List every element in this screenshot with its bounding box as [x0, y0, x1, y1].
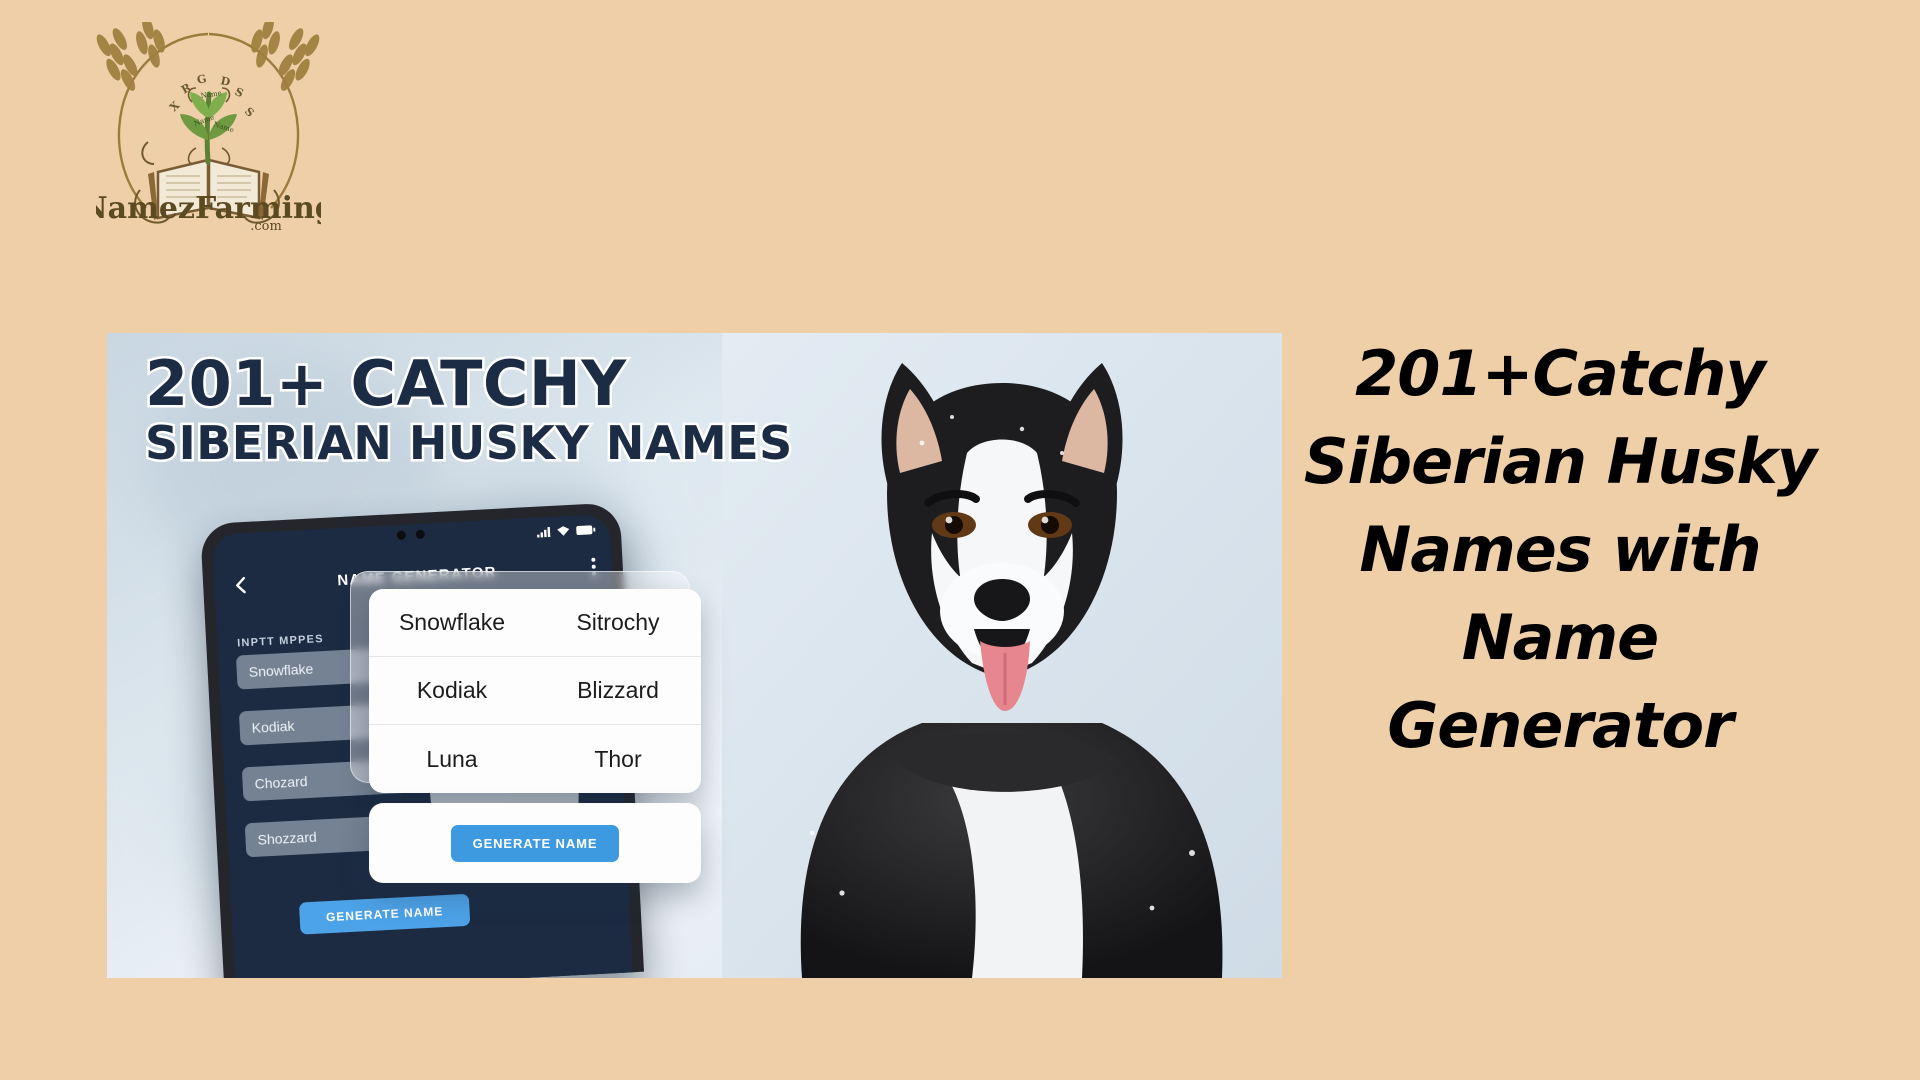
- name-cell[interactable]: Snowflake: [369, 609, 535, 636]
- phone-generate-name-button[interactable]: GENERATE NAME: [299, 894, 470, 935]
- camera-dot-icon: [397, 530, 406, 539]
- phone-status-bar: [537, 524, 596, 538]
- svg-text:D: D: [219, 74, 231, 89]
- wifi-icon: [557, 525, 571, 537]
- phone-notch: [378, 527, 445, 542]
- name-cell[interactable]: Luna: [369, 746, 535, 773]
- name-cell[interactable]: Thor: [535, 746, 701, 773]
- phone-input-label: INPTT MPPES: [237, 633, 324, 650]
- svg-text:S: S: [233, 85, 246, 100]
- name-row: Kodiak Blizzard: [369, 657, 701, 725]
- site-logo[interactable]: Name Name Name R G D S X S NamezFarming …: [96, 22, 321, 234]
- generate-name-button[interactable]: GENERATE NAME: [451, 825, 620, 862]
- generated-names-card: Snowflake Sitrochy Kodiak Blizzard Luna …: [369, 589, 701, 793]
- banner-headline: 201+ CATCHY SIBERIAN HUSKY NAMES: [145, 351, 793, 470]
- name-cell[interactable]: Blizzard: [535, 677, 701, 704]
- husky-photo: [722, 333, 1282, 978]
- name-row: Snowflake Sitrochy: [369, 589, 701, 657]
- kebab-dot: [592, 565, 596, 569]
- camera-dot-icon: [416, 529, 425, 538]
- svg-text:G: G: [196, 72, 208, 87]
- logo-illustration: Name Name Name R G D S X S NamezFarming …: [96, 22, 321, 234]
- signal-icon: [537, 526, 552, 538]
- generate-button-card: GENERATE NAME: [369, 803, 701, 883]
- name-cell[interactable]: Kodiak: [369, 677, 535, 704]
- page-title: 201+Catchy Siberian Husky Names with Nam…: [1300, 330, 1820, 770]
- banner-headline-line2: SIBERIAN HUSKY NAMES: [145, 416, 793, 470]
- kebab-dot: [591, 558, 595, 562]
- name-cell[interactable]: Sitrochy: [535, 609, 701, 636]
- name-row: Luna Thor: [369, 725, 701, 793]
- svg-text:S: S: [242, 105, 257, 120]
- logo-domain: .com: [250, 219, 282, 234]
- banner-headline-line1: 201+ CATCHY: [145, 351, 793, 416]
- battery-icon: [576, 524, 596, 535]
- svg-text:X: X: [167, 99, 183, 115]
- article-banner-image: 201+ CATCHY SIBERIAN HUSKY NAMES: [107, 333, 1282, 978]
- husky-illustration: [722, 333, 1282, 978]
- logo-wordmark: NamezFarming: [96, 191, 321, 226]
